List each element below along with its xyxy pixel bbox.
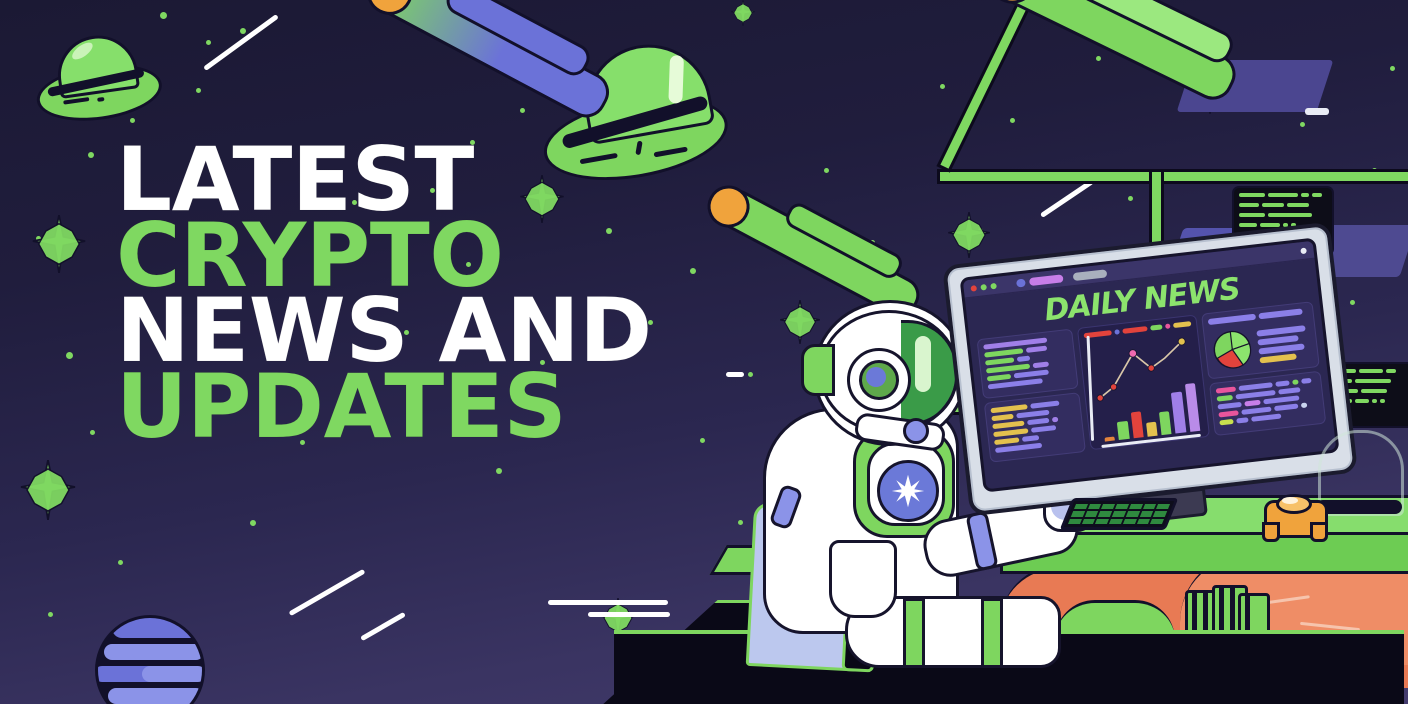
orange-canister	[1262, 492, 1324, 538]
illustration-banner: LATEST CRYPTO NEWS AND UPDATES	[0, 0, 1408, 704]
star-dot	[88, 152, 94, 158]
star-dot	[690, 268, 696, 274]
bar-chart	[1099, 383, 1200, 442]
star-dot	[1350, 300, 1355, 305]
star-dot	[48, 612, 53, 617]
dome-base-slot	[1316, 500, 1402, 514]
star-dot	[250, 520, 256, 526]
shooting-star	[360, 612, 406, 641]
star-dot	[66, 352, 73, 359]
shooting-star	[588, 612, 670, 617]
keyboard[interactable]	[1060, 498, 1179, 530]
star-dot	[940, 84, 945, 89]
chrome-pill-purple[interactable]	[1029, 274, 1064, 286]
star-dot	[206, 40, 211, 45]
chrome-pill-blue[interactable]	[1016, 278, 1026, 287]
chrome-pill-gray[interactable]	[1073, 269, 1108, 281]
headline: LATEST CRYPTO NEWS AND UPDATES	[116, 142, 652, 445]
chrome-dot-green-2[interactable]	[990, 282, 997, 289]
star-dot	[824, 168, 829, 173]
star-dot	[240, 28, 246, 34]
shooting-star	[1040, 179, 1094, 218]
comet-green-right	[942, 0, 1277, 168]
left-panel-a	[977, 329, 1079, 399]
sparkle-star	[18, 460, 78, 520]
monitor-screen[interactable]: DAILY NEWS	[959, 237, 1339, 492]
chrome-dot-indicator	[1300, 247, 1307, 254]
pie-chart	[1209, 326, 1255, 372]
star-dot	[1128, 196, 1133, 201]
sparkle-star	[730, 0, 756, 26]
bar-6	[1171, 391, 1186, 433]
ufo-top-left	[24, 17, 167, 134]
bar-3	[1130, 411, 1143, 438]
chrome-dot-green-1[interactable]	[980, 283, 987, 290]
dashboard-chart-panel	[1077, 314, 1210, 450]
star-dot	[700, 438, 705, 443]
shooting-star	[203, 14, 279, 71]
chrome-dot-red[interactable]	[970, 285, 977, 292]
pie-panel	[1201, 301, 1320, 379]
bar-1	[1104, 437, 1115, 442]
sparkle-star	[946, 212, 992, 258]
star-dot	[90, 430, 95, 435]
right-table-panel	[1209, 371, 1326, 436]
helmet-green-side	[801, 344, 835, 396]
star-dot	[496, 468, 502, 474]
shooting-star	[289, 569, 366, 616]
star-dot	[196, 88, 201, 93]
bar-5	[1159, 411, 1172, 435]
planet-banded-purple	[95, 615, 205, 704]
star-dot	[1300, 122, 1305, 127]
bar-2	[1117, 421, 1129, 440]
star-dot	[118, 560, 123, 565]
shooting-star	[548, 600, 668, 605]
left-panel-b	[984, 392, 1086, 462]
bar-4	[1146, 421, 1158, 436]
star-dot	[1390, 66, 1395, 71]
bar-7	[1185, 383, 1201, 432]
monitor[interactable]: DAILY NEWS	[942, 222, 1358, 517]
star-dot	[160, 12, 167, 19]
star-emblem	[877, 460, 939, 522]
dashboard-right-column	[1201, 301, 1326, 436]
star-dot	[1010, 118, 1015, 123]
sparkle-star	[30, 215, 88, 273]
dashboard-left-column	[977, 329, 1086, 462]
